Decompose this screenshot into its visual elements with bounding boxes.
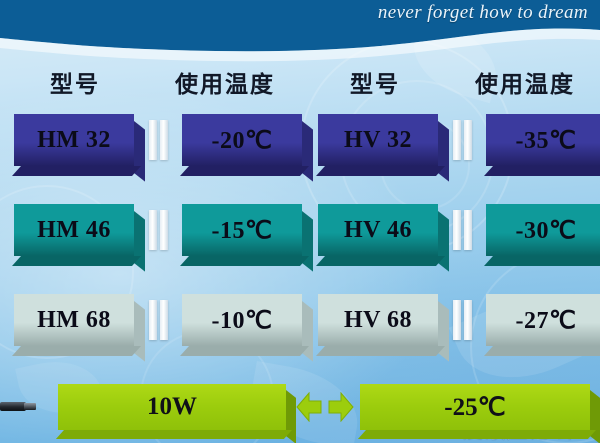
model-label: HV 68 (344, 307, 412, 334)
block-bottom (484, 166, 600, 176)
temperature-label: -30℃ (516, 216, 577, 245)
block-side (590, 390, 600, 443)
block-side (302, 301, 313, 362)
row-pair-left: HM 68 -10℃ (14, 294, 302, 346)
model-label: HV 32 (344, 127, 412, 154)
data-rows: HM 32 -20℃ HV 32 (0, 108, 600, 378)
block-side (134, 121, 145, 182)
model-label: HM 32 (37, 127, 111, 154)
summary-temperature-label: -25℃ (444, 392, 505, 422)
power-plug-icon (0, 398, 34, 414)
temperature-label: -10℃ (212, 306, 273, 335)
block-side (134, 211, 145, 272)
block-bottom (316, 166, 445, 176)
arrow-left-icon (296, 392, 322, 422)
block-bottom (180, 256, 309, 266)
model-block[interactable]: HV 68 (318, 294, 438, 346)
block-bottom (484, 256, 600, 266)
temperature-label: -27℃ (516, 306, 577, 335)
block-bottom (316, 346, 445, 356)
temperature-block[interactable]: -10℃ (182, 294, 302, 346)
row-pair-right: HV 46 -30℃ (318, 204, 600, 256)
connector-icon (143, 294, 173, 346)
connector-icon (447, 204, 477, 256)
temperature-label: -20℃ (212, 126, 273, 155)
block-side (438, 301, 449, 362)
block-bottom (12, 346, 141, 356)
connector-icon (143, 114, 173, 166)
block-side (438, 211, 449, 272)
table-row: HM 46 -15℃ HV 46 (0, 198, 600, 288)
temperature-label: -35℃ (516, 126, 577, 155)
table-row: HM 32 -20℃ HV 32 (0, 108, 600, 198)
block-bottom (12, 166, 141, 176)
model-block[interactable]: HM 68 (14, 294, 134, 346)
block-bottom (12, 256, 141, 266)
arrow-right-icon (328, 392, 354, 422)
connector-icon (447, 294, 477, 346)
model-block[interactable]: HM 32 (14, 114, 134, 166)
model-label: HM 46 (37, 217, 111, 244)
summary-temperature-block[interactable]: -25℃ (360, 384, 590, 430)
summary-model-block[interactable]: 10W (58, 384, 286, 430)
block-bottom (56, 430, 292, 439)
connector-icon (143, 204, 173, 256)
block-side (302, 211, 313, 272)
block-side (286, 390, 296, 443)
column-header-temperature-left: 使用温度 (150, 60, 300, 104)
model-block[interactable]: HV 32 (318, 114, 438, 166)
row-pair-right: HV 32 -35℃ (318, 114, 600, 166)
summary-row: 10W -25℃ (0, 382, 600, 443)
block-side (438, 121, 449, 182)
temperature-block[interactable]: -20℃ (182, 114, 302, 166)
temperature-block[interactable]: -15℃ (182, 204, 302, 256)
row-pair-right: HV 68 -27℃ (318, 294, 600, 346)
slide-canvas: never forget how to dream 型号 使用温度 型号 使用温… (0, 0, 600, 443)
column-header-row: 型号 使用温度 型号 使用温度 (0, 60, 600, 104)
model-block[interactable]: HM 46 (14, 204, 134, 256)
block-bottom (180, 166, 309, 176)
table-row: HM 68 -10℃ HV 68 (0, 288, 600, 378)
block-bottom (180, 346, 309, 356)
temperature-block[interactable]: -30℃ (486, 204, 600, 256)
row-pair-left: HM 46 -15℃ (14, 204, 302, 256)
block-bottom (316, 256, 445, 266)
banner-wave-shape (0, 0, 600, 66)
column-header-temperature-right: 使用温度 (450, 60, 600, 104)
temperature-block[interactable]: -27℃ (486, 294, 600, 346)
block-bottom (484, 346, 600, 356)
model-label: HV 46 (344, 217, 412, 244)
header-banner: never forget how to dream (0, 0, 600, 66)
summary-model-label: 10W (147, 393, 197, 421)
temperature-label: -15℃ (212, 216, 273, 245)
row-pair-left: HM 32 -20℃ (14, 114, 302, 166)
column-header-model-left: 型号 (0, 60, 150, 104)
banner-tagline: never forget how to dream (378, 2, 588, 24)
block-side (134, 301, 145, 362)
model-label: HM 68 (37, 307, 111, 334)
arrow-pair (296, 390, 358, 424)
connector-icon (447, 114, 477, 166)
column-header-model-right: 型号 (300, 60, 450, 104)
model-block[interactable]: HV 46 (318, 204, 438, 256)
block-side (302, 121, 313, 182)
block-bottom (358, 430, 596, 439)
temperature-block[interactable]: -35℃ (486, 114, 600, 166)
